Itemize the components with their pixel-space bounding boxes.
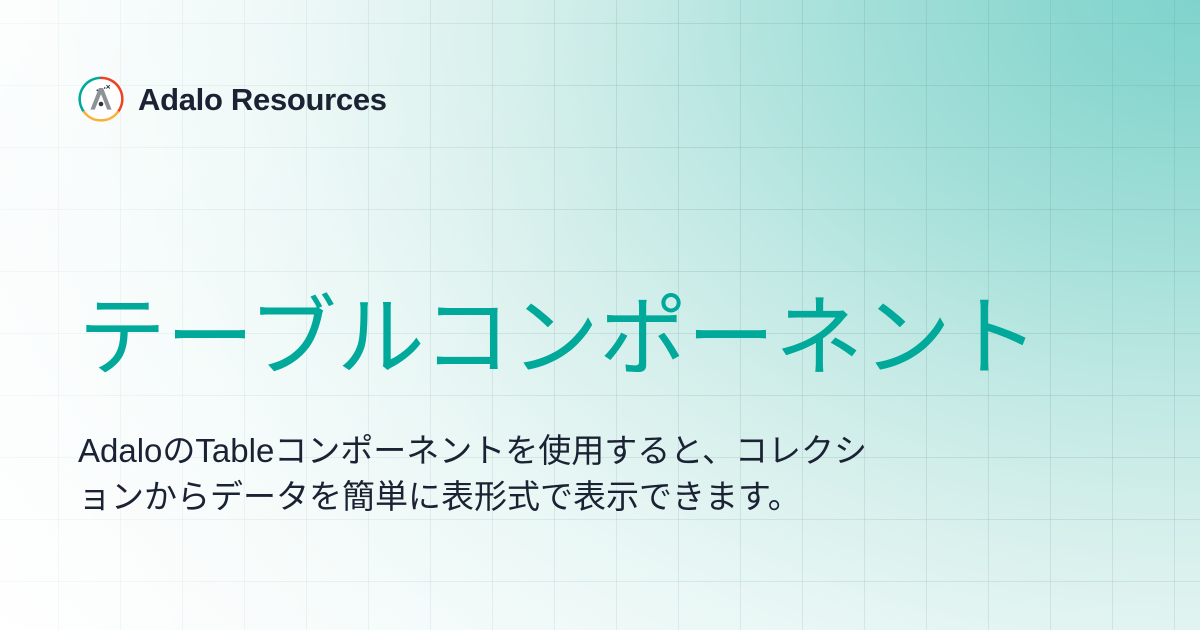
page-title: テーブルコンポーネント — [78, 294, 1138, 382]
brand-name: Adalo Resources — [138, 84, 387, 115]
og-card: Adalo Resources テーブルコンポーネント AdaloのTableコ… — [0, 0, 1200, 630]
brand-lockup: Adalo Resources — [78, 76, 387, 122]
adalo-logo-icon — [78, 76, 124, 122]
page-description: AdaloのTableコンポーネントを使用すると、コレクションからデータを簡単に… — [78, 428, 868, 519]
